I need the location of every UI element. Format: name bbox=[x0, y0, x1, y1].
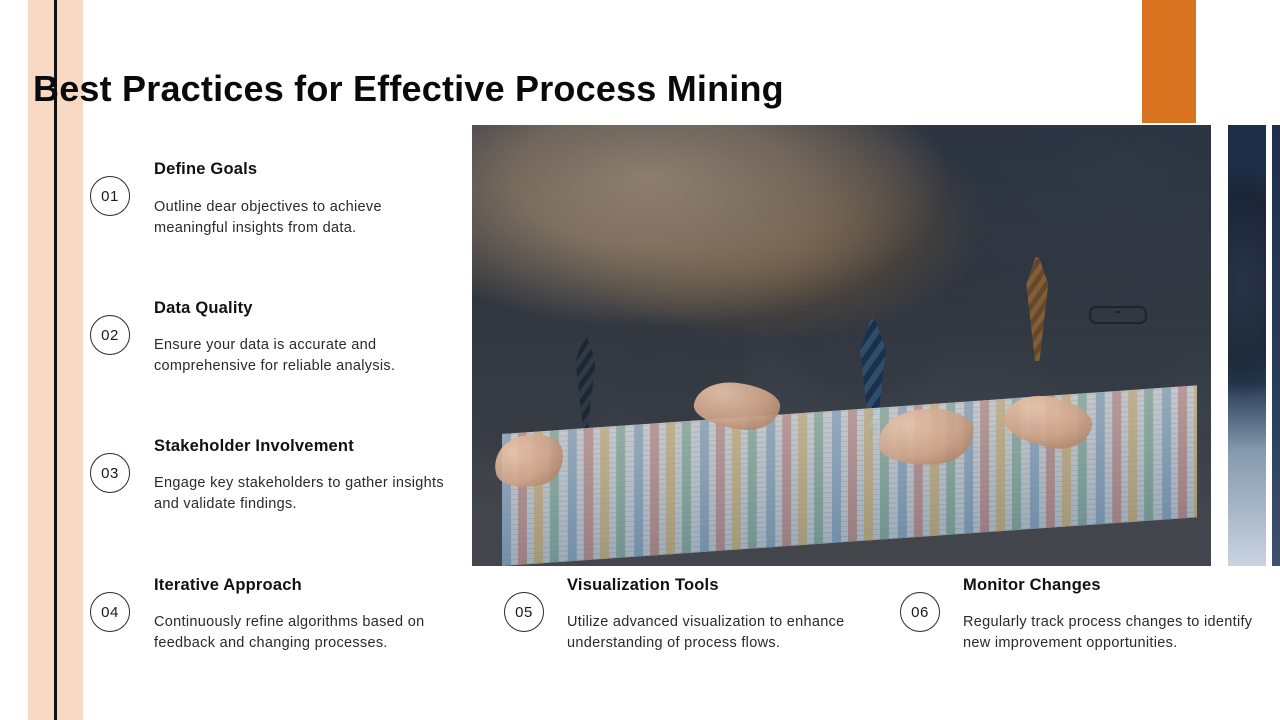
eyeglasses bbox=[1089, 306, 1147, 324]
item-description: Continuously refine algorithms based on … bbox=[154, 612, 454, 654]
item-description: Ensure your data is accurate and compreh… bbox=[154, 335, 454, 377]
necktie-left bbox=[575, 337, 595, 433]
printed-charts-on-table bbox=[502, 385, 1197, 566]
item-number-badge: 04 bbox=[90, 592, 130, 632]
item-number-badge: 02 bbox=[90, 315, 130, 355]
item-description: Utilize advanced visualization to enhanc… bbox=[567, 612, 877, 654]
photo-scene bbox=[472, 125, 1211, 566]
item-description: Outline dear objectives to achieve meani… bbox=[154, 197, 454, 239]
item-heading: Monitor Changes bbox=[963, 576, 1101, 595]
item-heading: Define Goals bbox=[154, 160, 257, 179]
photo-strip-two-scene bbox=[1272, 125, 1280, 566]
photo-strip-one bbox=[1228, 125, 1266, 566]
item-description: Regularly track process changes to ident… bbox=[963, 612, 1280, 654]
main-photo bbox=[472, 125, 1211, 566]
item-number-badge: 03 bbox=[90, 453, 130, 493]
page-title: Best Practices for Effective Process Min… bbox=[33, 66, 1123, 112]
item-number-badge: 01 bbox=[90, 176, 130, 216]
item-heading: Iterative Approach bbox=[154, 576, 302, 595]
top-right-orange-block bbox=[1142, 0, 1196, 123]
item-number-badge: 06 bbox=[900, 592, 940, 632]
item-heading: Visualization Tools bbox=[567, 576, 719, 595]
slide-root: Best Practices for Effective Process Min… bbox=[0, 0, 1280, 720]
item-description: Engage key stakeholders to gather insigh… bbox=[154, 473, 464, 515]
item-number-badge: 05 bbox=[504, 592, 544, 632]
photo-strip-two bbox=[1272, 125, 1280, 566]
item-heading: Data Quality bbox=[154, 299, 253, 318]
necktie-right bbox=[1026, 257, 1048, 361]
photo-strip-one-scene bbox=[1228, 125, 1266, 566]
item-heading: Stakeholder Involvement bbox=[154, 437, 354, 456]
